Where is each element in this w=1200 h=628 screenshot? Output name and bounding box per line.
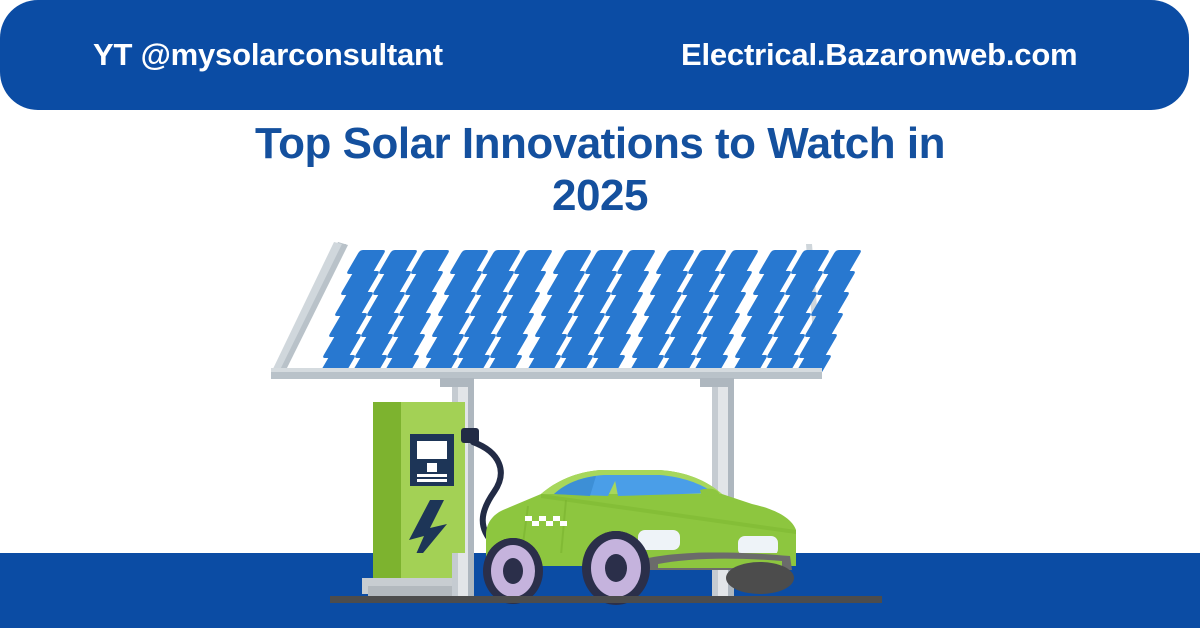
banner-website-url[interactable]: Electrical.Bazaronweb.com (681, 37, 1077, 73)
car-windows (554, 475, 714, 496)
headlight-front (638, 530, 680, 550)
charger-display (410, 434, 454, 486)
poster-canvas: YT @mysolarconsultant Electrical.Bazaron… (0, 0, 1200, 628)
pv-cell-grid (317, 250, 861, 379)
taxi-checker-stripe (525, 516, 567, 526)
bottom-accent-band (0, 553, 1200, 628)
banner-youtube-handle[interactable]: YT @mysolarconsultant (93, 37, 443, 73)
carport-support-posts (440, 378, 734, 578)
charging-cable (461, 428, 501, 544)
page-title: Top Solar Innovations to Watch in 2025 (0, 118, 1200, 222)
top-banner: YT @mysolarconsultant Electrical.Bazaron… (0, 0, 1189, 110)
